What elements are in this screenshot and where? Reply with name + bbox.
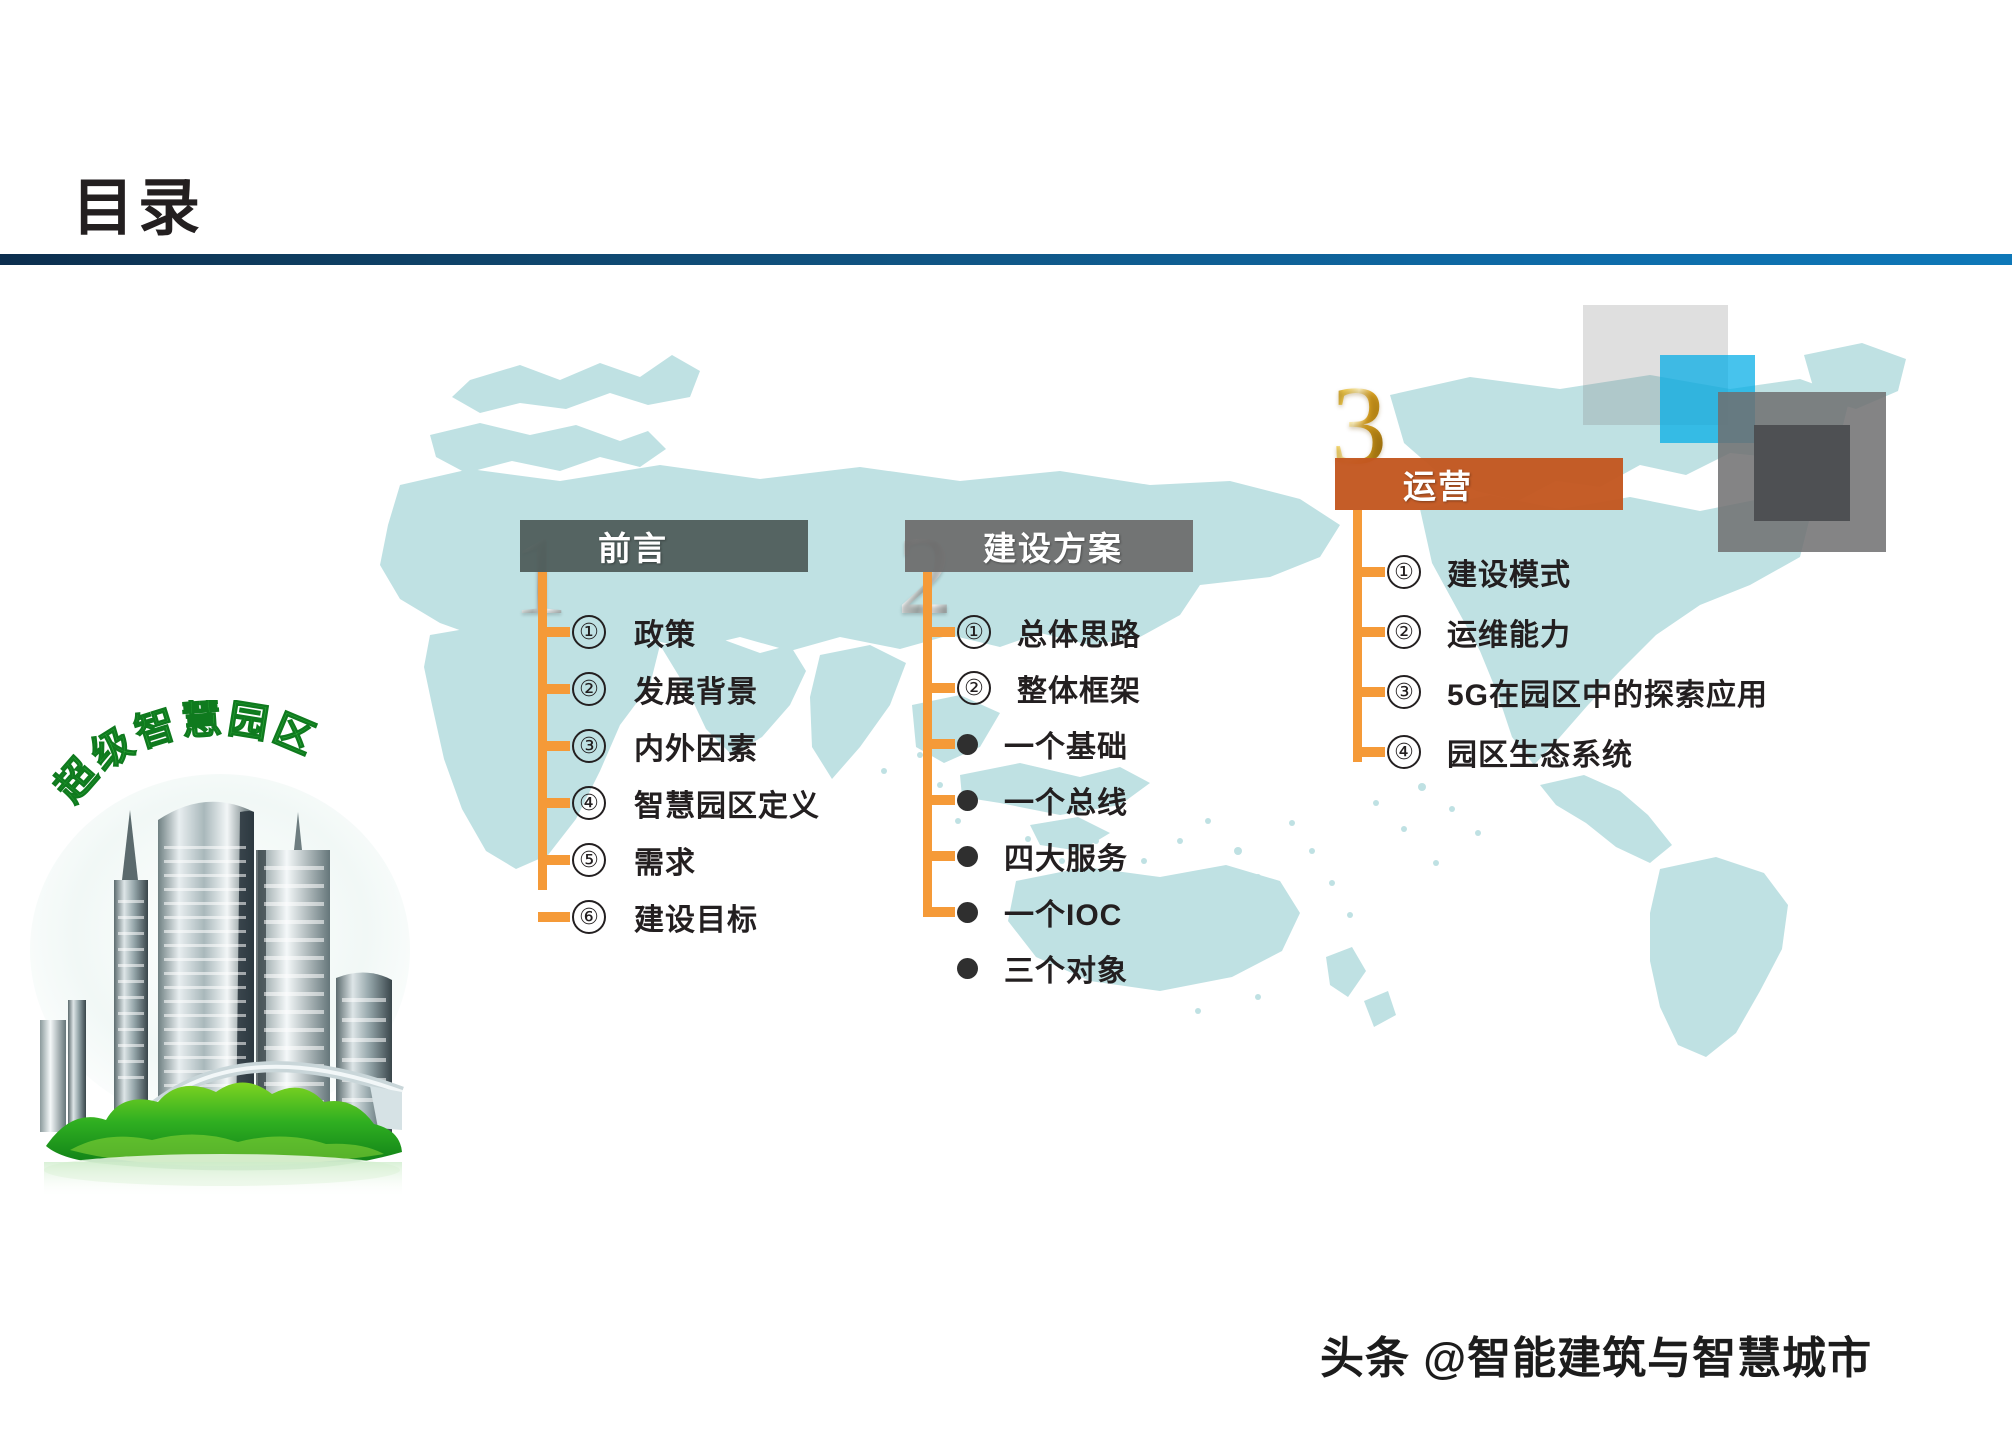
list-item[interactable]: ① 政策 <box>538 610 880 654</box>
timeline-tick <box>538 855 570 865</box>
timeline-tick <box>538 741 570 751</box>
bullet-dot-icon <box>957 902 978 923</box>
timeline-tick <box>923 851 955 861</box>
section-column-1: 1 前言 ① 政策 ② 发展背景 ③ 内外因素 ④ <box>520 520 880 939</box>
list-item[interactable]: ⑤ 需求 <box>538 838 880 882</box>
timeline-3: ① 建设模式 ② 运维能力 ③ 5G在园区中的探索应用 ④ 园区生态系统 <box>1353 510 1755 774</box>
smart-park-illustration: 超级智慧园区 <box>10 700 430 1200</box>
list-item[interactable]: 一个IOC <box>923 890 1265 934</box>
list-item[interactable]: ④ 智慧园区定义 <box>538 781 880 825</box>
timeline-tick <box>923 739 955 749</box>
item-number-badge: ④ <box>572 786 606 820</box>
footer-watermark: 头条 @智能建筑与智慧城市 <box>1320 1322 1872 1386</box>
list-item[interactable]: 一个基础 <box>923 722 1265 766</box>
list-item[interactable]: ② 运维能力 <box>1353 610 1755 654</box>
page-title: 目录 <box>72 178 204 240</box>
timeline-tick <box>923 907 955 917</box>
item-number-badge: ② <box>957 671 991 705</box>
item-label: 建设模式 <box>1447 550 1571 594</box>
list-item[interactable]: ② 发展背景 <box>538 667 880 711</box>
item-number-badge: ① <box>572 615 606 649</box>
item-label: 整体框架 <box>1017 666 1141 710</box>
item-number-badge: ① <box>1387 555 1421 589</box>
section-column-3: 3 运营 ① 建设模式 ② 运维能力 ③ 5G在园区中的探索应用 <box>1335 458 1755 774</box>
item-label: 总体思路 <box>1017 610 1141 654</box>
section-header-1[interactable]: 前言 <box>520 520 808 572</box>
list-item[interactable]: ③ 内外因素 <box>538 724 880 768</box>
timeline-tick <box>1353 627 1385 637</box>
timeline-tick <box>538 627 570 637</box>
item-label: 政策 <box>634 610 696 654</box>
decor-square-gray-dark <box>1754 425 1850 521</box>
item-label: 三个对象 <box>1004 946 1128 990</box>
list-item[interactable]: ⑥ 建设目标 <box>538 895 880 939</box>
list-item[interactable]: ④ 园区生态系统 <box>1353 730 1755 774</box>
section-header-3[interactable]: 运营 <box>1335 458 1623 510</box>
item-label: 5G在园区中的探索应用 <box>1447 670 1768 714</box>
item-number-badge: ① <box>957 615 991 649</box>
list-item[interactable]: ① 总体思路 <box>923 610 1265 654</box>
item-label: 内外因素 <box>634 724 758 768</box>
item-number-badge: ④ <box>1387 735 1421 769</box>
timeline-tick <box>1353 747 1385 757</box>
section-header-label-3: 运营 <box>1403 460 1473 508</box>
list-item[interactable]: 三个对象 <box>923 946 1265 990</box>
item-label: 四大服务 <box>1004 834 1128 878</box>
section-header-2[interactable]: 建设方案 <box>905 520 1193 572</box>
item-number-badge: ⑤ <box>572 843 606 877</box>
timeline-1: ① 政策 ② 发展背景 ③ 内外因素 ④ 智慧园区定义 ⑤ 需求 <box>538 572 880 939</box>
slide-canvas: 目录 <box>0 0 2012 1431</box>
timeline-tick <box>538 684 570 694</box>
item-label: 建设目标 <box>634 895 758 939</box>
timeline-tick <box>923 627 955 637</box>
section-header-label-2: 建设方案 <box>983 522 1123 570</box>
timeline-2: ① 总体思路 ② 整体框架 一个基础 一个总线 四大服务 <box>923 572 1265 990</box>
list-item[interactable]: ③ 5G在园区中的探索应用 <box>1353 670 1755 714</box>
bullet-dot-icon <box>957 846 978 867</box>
timeline-tick <box>1353 687 1385 697</box>
item-label: 智慧园区定义 <box>634 781 820 825</box>
list-item[interactable]: 一个总线 <box>923 778 1265 822</box>
section-column-2: 2 建设方案 ① 总体思路 ② 整体框架 一个基础 <box>905 520 1265 990</box>
item-label: 一个基础 <box>1004 722 1128 766</box>
list-item[interactable]: ① 建设模式 <box>1353 550 1755 594</box>
item-number-badge: ⑥ <box>572 900 606 934</box>
item-label: 园区生态系统 <box>1447 730 1633 774</box>
item-label: 一个IOC <box>1004 890 1122 934</box>
item-label: 运维能力 <box>1447 610 1571 654</box>
item-number-badge: ② <box>572 672 606 706</box>
bullet-dot-icon <box>957 790 978 811</box>
item-label: 需求 <box>634 838 696 882</box>
item-label: 发展背景 <box>634 667 758 711</box>
item-number-badge: ③ <box>1387 675 1421 709</box>
timeline-tick <box>538 798 570 808</box>
bullet-dot-icon <box>957 734 978 755</box>
item-number-badge: ③ <box>572 729 606 763</box>
timeline-tick <box>538 912 570 922</box>
list-item[interactable]: 四大服务 <box>923 834 1265 878</box>
timeline-tick <box>1353 567 1385 577</box>
bullet-dot-icon <box>957 958 978 979</box>
item-label: 一个总线 <box>1004 778 1128 822</box>
section-header-label-1: 前言 <box>598 522 668 570</box>
list-item[interactable]: ② 整体框架 <box>923 666 1265 710</box>
item-number-badge: ② <box>1387 615 1421 649</box>
timeline-tick <box>923 683 955 693</box>
title-underline-bar <box>0 254 2012 265</box>
timeline-tick <box>923 795 955 805</box>
